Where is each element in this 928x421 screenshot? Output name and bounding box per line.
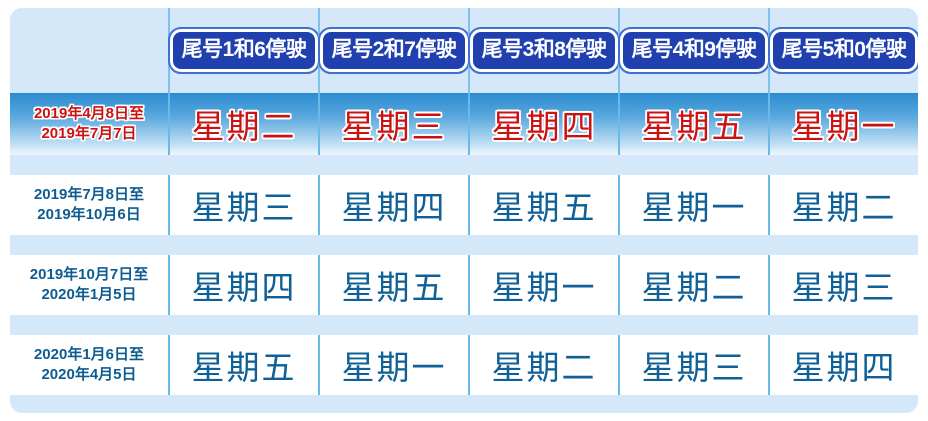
table-row: 2019年4月8日至 2019年7月7日 星期二 星期三 星期四 星期五 星期一: [10, 93, 918, 155]
row-day-cell: 星期一: [618, 175, 768, 235]
row-day-cell: 星期四: [168, 255, 318, 315]
header-cell-tail-5-0: 尾号5和0停驶: [768, 8, 918, 93]
row-day-cell: 星期一: [318, 335, 468, 395]
row-day-value: 星期一: [642, 181, 747, 229]
row-day-cell: 星期一: [768, 93, 918, 155]
row-day-value: 星期四: [792, 341, 897, 389]
header-cell-tail-4-9: 尾号4和9停驶: [618, 8, 768, 93]
row-day-value: 星期五: [192, 341, 297, 389]
row-day-value: 星期一: [492, 261, 597, 309]
row-day-cell: 星期五: [168, 335, 318, 395]
row-day-value: 星期三: [642, 341, 747, 389]
row-date-line1: 2019年7月8日至: [34, 185, 144, 205]
row-day-cell: 星期二: [618, 255, 768, 315]
row-day-value: 星期二: [642, 261, 747, 309]
row-separator-band: [10, 235, 918, 255]
row-date-cell: 2019年4月8日至 2019年7月7日: [10, 93, 168, 155]
table-header-row: 尾号1和6停驶 尾号2和7停驶 尾号3和8停驶 尾号4和9停驶 尾号5和0停驶: [10, 8, 918, 93]
row-day-value: 星期四: [342, 181, 447, 229]
row-day-value: 星期一: [792, 100, 897, 148]
row-day-cell: 星期二: [468, 335, 618, 395]
row-day-value: 星期三: [192, 181, 297, 229]
row-day-cell: 星期五: [468, 175, 618, 235]
row-day-cell: 星期二: [168, 93, 318, 155]
row-day-value: 星期一: [342, 341, 447, 389]
row-day-value: 星期四: [492, 100, 597, 148]
header-cell-tail-2-7: 尾号2和7停驶: [318, 8, 468, 93]
header-badge-tail-2-7: 尾号2和7停驶: [320, 29, 469, 72]
header-cell-tail-3-8: 尾号3和8停驶: [468, 8, 618, 93]
row-day-cell: 星期三: [318, 93, 468, 155]
row-day-value: 星期四: [192, 261, 297, 309]
header-cell-tail-1-6: 尾号1和6停驶: [168, 8, 318, 93]
row-day-value: 星期三: [792, 261, 897, 309]
header-badge-tail-1-6: 尾号1和6停驶: [170, 29, 319, 72]
header-badge-tail-3-8: 尾号3和8停驶: [470, 29, 619, 72]
row-day-cell: 星期四: [768, 335, 918, 395]
row-day-cell: 星期三: [768, 255, 918, 315]
header-badge-tail-5-0: 尾号5和0停驶: [770, 29, 918, 72]
row-day-value: 星期五: [492, 181, 597, 229]
row-date-line2: 2020年1月5日: [30, 285, 148, 305]
row-date-line2: 2019年10月6日: [34, 205, 144, 225]
row-day-cell: 星期一: [468, 255, 618, 315]
row-day-value: 星期三: [342, 100, 447, 148]
row-day-value: 星期二: [192, 100, 297, 148]
row-day-value: 星期五: [642, 100, 747, 148]
row-day-value: 星期二: [492, 341, 597, 389]
row-date-line1: 2019年4月8日至: [34, 104, 144, 124]
row-separator-band: [10, 155, 918, 175]
row-day-cell: 星期四: [468, 93, 618, 155]
table-row: 2020年1月6日至 2020年4月5日 星期五 星期一 星期二 星期三 星期四: [10, 335, 918, 395]
restriction-table: 尾号1和6停驶 尾号2和7停驶 尾号3和8停驶 尾号4和9停驶 尾号5和0停驶 …: [10, 8, 918, 413]
header-cell-date-range: [10, 8, 168, 93]
header-badge-tail-4-9: 尾号4和9停驶: [620, 29, 769, 72]
row-day-cell: 星期四: [318, 175, 468, 235]
row-day-cell: 星期三: [618, 335, 768, 395]
row-date-line1: 2020年1月6日至: [34, 345, 144, 365]
row-day-cell: 星期三: [168, 175, 318, 235]
row-date-cell: 2020年1月6日至 2020年4月5日: [10, 335, 168, 395]
row-date-cell: 2019年7月8日至 2019年10月6日: [10, 175, 168, 235]
table-row: 2019年7月8日至 2019年10月6日 星期三 星期四 星期五 星期一 星期…: [10, 175, 918, 235]
row-day-cell: 星期二: [768, 175, 918, 235]
row-date-line1: 2019年10月7日至: [30, 265, 148, 285]
row-separator-band: [10, 315, 918, 335]
row-date-cell: 2019年10月7日至 2020年1月5日: [10, 255, 168, 315]
row-day-cell: 星期五: [618, 93, 768, 155]
table-row: 2019年10月7日至 2020年1月5日 星期四 星期五 星期一 星期二 星期…: [10, 255, 918, 315]
row-date-line2: 2019年7月7日: [34, 124, 144, 144]
row-date-line2: 2020年4月5日: [34, 365, 144, 385]
row-day-value: 星期五: [342, 261, 447, 309]
table-bottom-band: [10, 395, 918, 413]
row-day-cell: 星期五: [318, 255, 468, 315]
row-day-value: 星期二: [792, 181, 897, 229]
